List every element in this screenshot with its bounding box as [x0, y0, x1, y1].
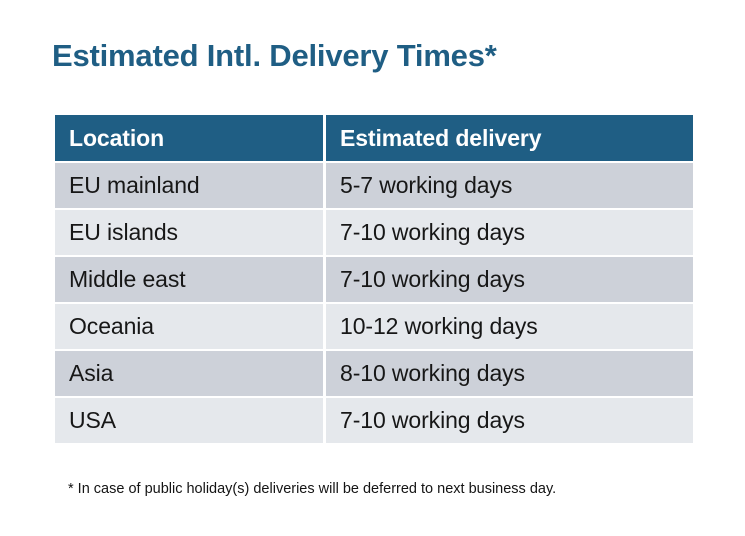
table-body: EU mainland 5-7 working days EU islands … — [55, 163, 693, 443]
page-title: Estimated Intl. Delivery Times* — [52, 38, 497, 74]
cell-estimated-delivery: 7-10 working days — [326, 398, 693, 443]
cell-location: EU islands — [55, 210, 323, 255]
table-row: USA 7-10 working days — [55, 398, 693, 443]
table-header-row: Location Estimated delivery — [55, 115, 693, 161]
cell-location: Middle east — [55, 257, 323, 302]
table-row: EU mainland 5-7 working days — [55, 163, 693, 208]
footnote: * In case of public holiday(s) deliverie… — [68, 481, 556, 497]
delivery-times-card: Estimated Intl. Delivery Times* Location… — [0, 0, 745, 536]
cell-location: USA — [55, 398, 323, 443]
table-row: Asia 8-10 working days — [55, 351, 693, 396]
delivery-times-table: Location Estimated delivery EU mainland … — [52, 113, 696, 445]
cell-location: EU mainland — [55, 163, 323, 208]
cell-estimated-delivery: 7-10 working days — [326, 257, 693, 302]
table-header: Location Estimated delivery — [55, 115, 693, 161]
table-row: Oceania 10-12 working days — [55, 304, 693, 349]
cell-location: Asia — [55, 351, 323, 396]
cell-estimated-delivery: 5-7 working days — [326, 163, 693, 208]
cell-estimated-delivery: 7-10 working days — [326, 210, 693, 255]
column-header-estimated-delivery: Estimated delivery — [326, 115, 693, 161]
cell-estimated-delivery: 8-10 working days — [326, 351, 693, 396]
cell-location: Oceania — [55, 304, 323, 349]
table-row: Middle east 7-10 working days — [55, 257, 693, 302]
table-row: EU islands 7-10 working days — [55, 210, 693, 255]
column-header-location: Location — [55, 115, 323, 161]
cell-estimated-delivery: 10-12 working days — [326, 304, 693, 349]
